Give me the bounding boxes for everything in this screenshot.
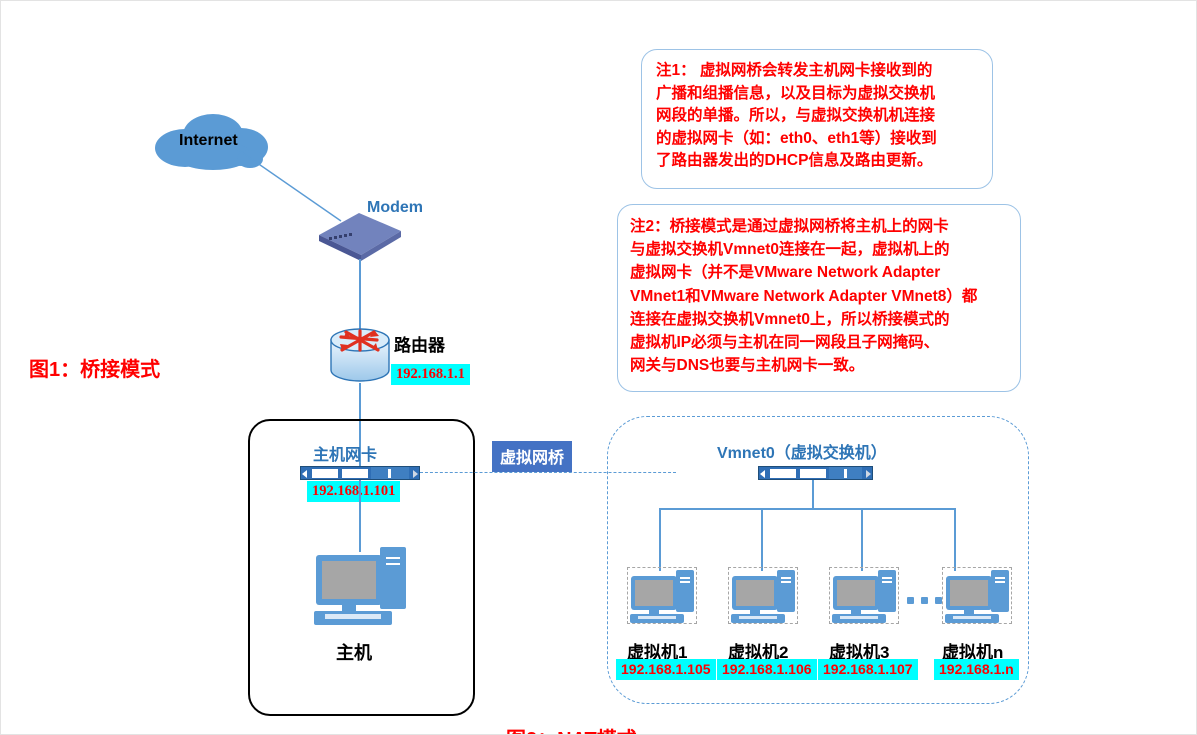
internet-label: Internet: [179, 132, 238, 150]
note-1-box: 注1： 虚拟网桥会转发主机网卡接收到的 广播和组播信息，以及目标为虚拟交换机 网…: [641, 49, 993, 189]
virtual-bridge-tag: 虚拟网桥: [492, 441, 572, 472]
vm-3-ip: 192.168.1.107: [818, 659, 918, 680]
host-nic-ip: 192.168.1.101: [307, 481, 400, 502]
vm-1-ip: 192.168.1.105: [616, 659, 716, 680]
note-2-box: 注2：桥接模式是通过虚拟网桥将主机上的网卡 与虚拟交换机Vmnet0连接在一起，…: [617, 204, 1021, 392]
note-2-line-2: 与虚拟交换机Vmnet0连接在一起，虚拟机上的: [630, 238, 1010, 261]
router-icon: [329, 328, 391, 384]
note-2-line-4: VMnet1和VMware Network Adapter VMnet8）都: [630, 285, 1010, 308]
vm-2-icon[interactable]: [731, 569, 799, 623]
vm-ellipsis-icon: [907, 597, 942, 604]
link-bus-vm2: [761, 508, 763, 571]
router-label: 路由器: [394, 331, 445, 356]
vm-n-ip: 192.168.1.n: [934, 659, 1019, 680]
router-ip: 192.168.1.1: [391, 364, 470, 385]
modem-icon: [315, 211, 405, 263]
host-nic-label: 主机网卡: [313, 441, 377, 465]
link-bus-vm1: [659, 508, 661, 571]
vm-2-ip: 192.168.1.106: [717, 659, 817, 680]
vm-n-icon[interactable]: [945, 569, 1013, 623]
vm-1-icon[interactable]: [630, 569, 698, 623]
host-label: 主机: [336, 639, 372, 665]
note-2-line-5: 连接在虚拟交换机Vmnet0上，所以桥接模式的: [630, 308, 1010, 331]
note-1-line-3: 网段的单播。所以，与虚拟交换机机连接: [656, 105, 980, 128]
note-2-line-3: 虚拟网卡（并不是VMware Network Adapter: [630, 261, 1010, 284]
note-1-line-4: 的虚拟网卡（如：eth0、eth1等）接收到: [656, 128, 980, 151]
note-2-line-1: 注2：桥接模式是通过虚拟网桥将主机上的网卡: [630, 215, 1010, 238]
link-bus-vmn: [954, 508, 956, 571]
bottom-figure-title: 图2：NAT模式: [506, 723, 637, 735]
note-1-line-1: 注1： 虚拟网桥会转发主机网卡接收到的: [656, 60, 980, 83]
link-modem-router: [359, 259, 361, 335]
note-2-line-7: 网关与DNS也要与主机网卡一致。: [630, 354, 1010, 377]
vm-bus-line: [659, 508, 955, 510]
link-vmnet0-bus: [812, 480, 814, 508]
desktop-pc-icon: [314, 545, 410, 627]
note-2-line-6: 虚拟机IP必须与主机在同一网段且子网掩码、: [630, 331, 1010, 354]
vmnet0-label: Vmnet0（虚拟交换机）: [717, 439, 887, 463]
link-bus-vm3: [861, 508, 863, 571]
diagram-canvas: 注1： 虚拟网桥会转发主机网卡接收到的 广播和组播信息，以及目标为虚拟交换机 网…: [0, 0, 1197, 735]
vmnet0-switch-icon: [758, 466, 873, 480]
figure-title: 图1：桥接模式: [29, 353, 160, 382]
host-nic-switch-icon: [300, 466, 420, 480]
vm-3-icon[interactable]: [832, 569, 900, 623]
modem-label: Modem: [367, 199, 423, 217]
note-1-line-5: 了路由器发出的DHCP信息及路由更新。: [656, 150, 980, 173]
note-1-line-2: 广播和组播信息，以及目标为虚拟交换机: [656, 83, 980, 106]
link-hostnic-host: [359, 480, 361, 552]
